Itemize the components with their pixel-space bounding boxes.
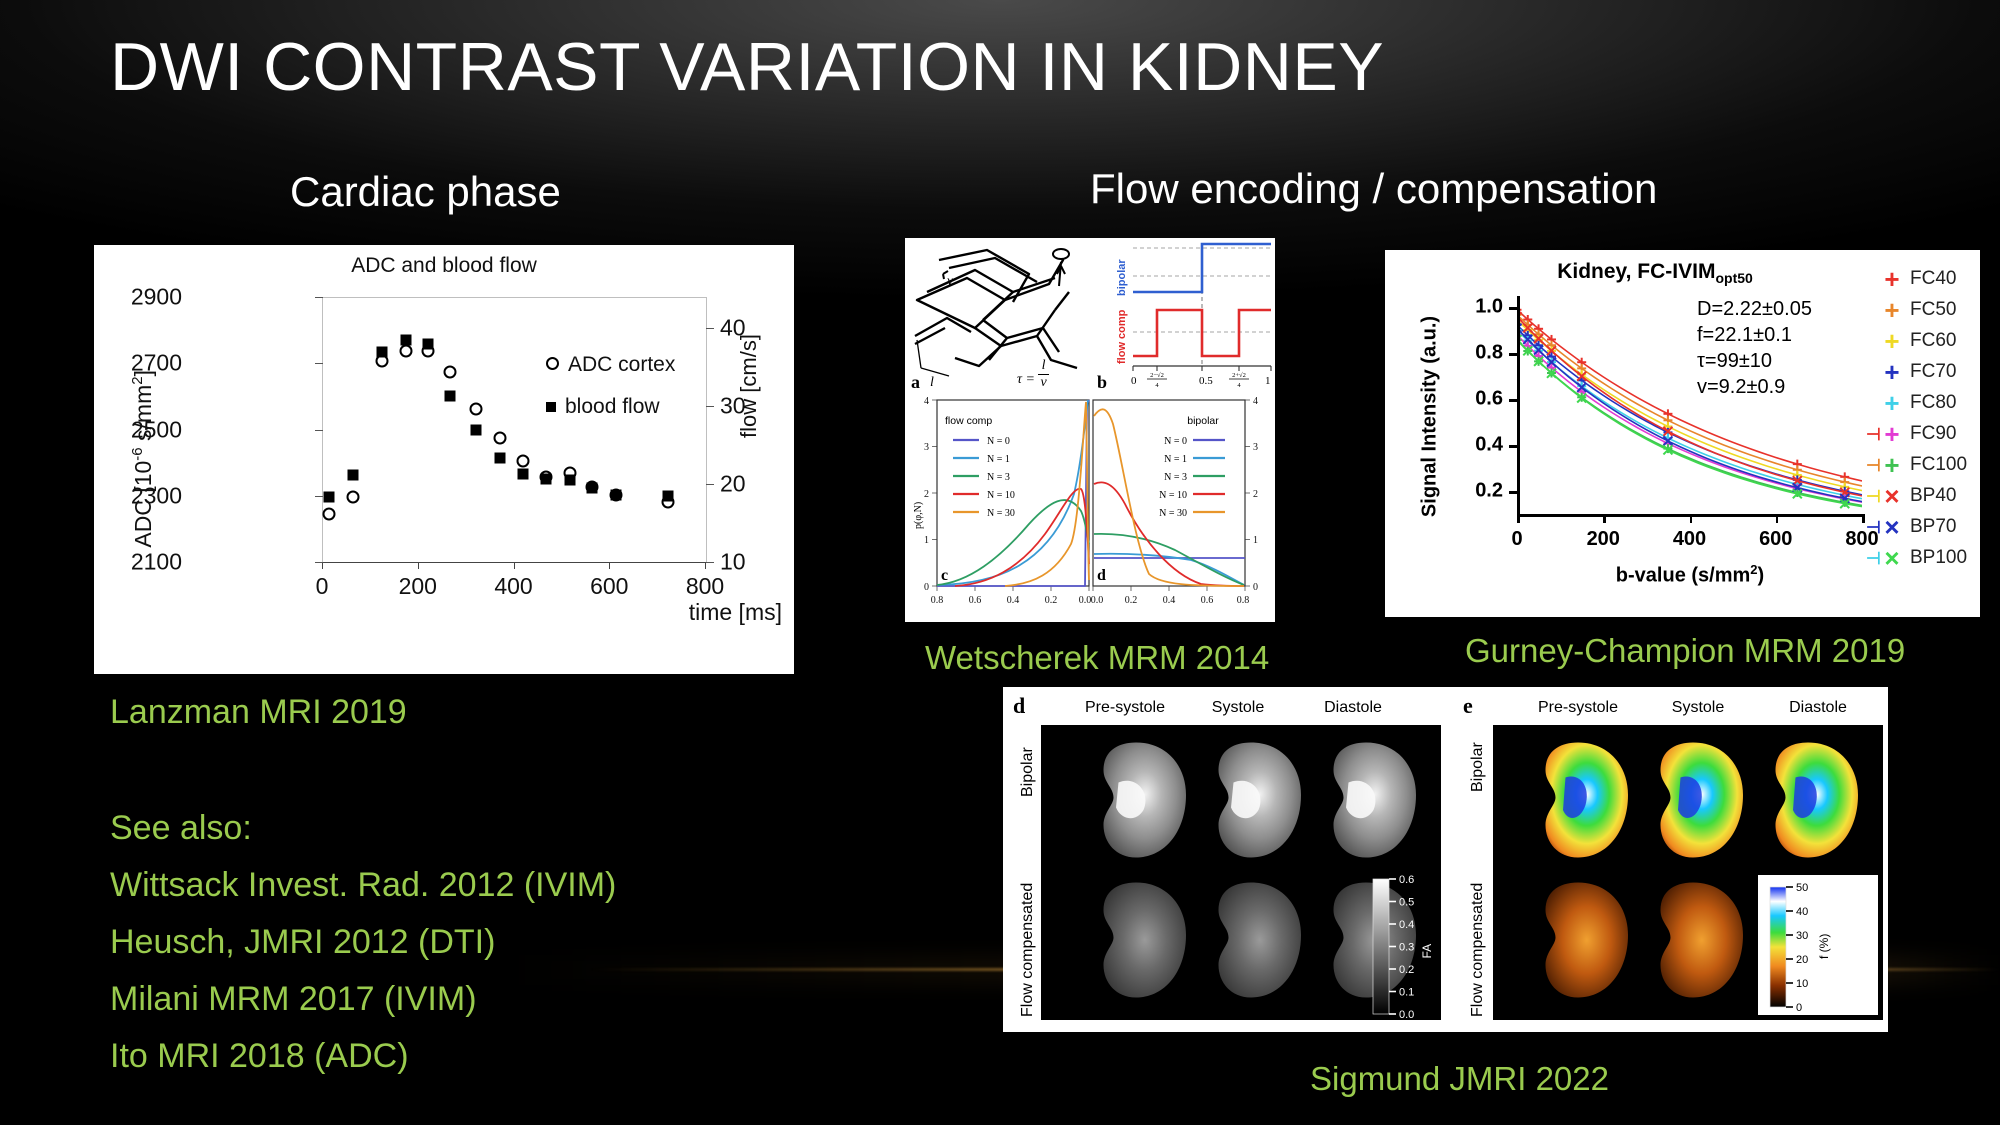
see-also-heading: See also: (110, 800, 616, 857)
svg-text:0: 0 (1131, 375, 1137, 387)
svg-text:N = 0: N = 0 (1164, 436, 1187, 447)
citation-wetscherek: Wetscherek MRM 2014 (925, 639, 1269, 677)
data-point-adc-cortex (323, 507, 336, 520)
column-header-pre-systole-d: Pre-systole (1085, 699, 1165, 717)
y-axis-tick-label: 2900 (131, 284, 182, 311)
axis-stub-marker: ⊣ (1866, 456, 1881, 476)
data-point-adc-cortex (470, 402, 483, 415)
y2-axis-tick (706, 406, 714, 407)
kidney-parametric-map (1104, 883, 1187, 998)
legend-item-fc70: +FC70 (1880, 357, 1980, 388)
svg-text:0.2: 0.2 (1125, 595, 1138, 606)
svg-text:N = 1: N = 1 (1164, 454, 1187, 465)
x-axis-tick (418, 562, 419, 569)
row-label-bipolar-e: Bipolar (1469, 742, 1487, 792)
colorbar-tick-label: 10 (1796, 978, 1808, 990)
colorbar-panel: 50403020100f (%) (1758, 875, 1878, 1015)
y2-axis-tick-label: 30 (720, 393, 746, 420)
svg-text:0.4: 0.4 (1163, 595, 1176, 606)
y-axis-title: Signal Intensity (a.u.) (1419, 302, 1442, 532)
y-axis-tick (315, 363, 323, 364)
data-point-adc-cortex (563, 467, 576, 480)
colorbar-tick-label: 0 (1796, 1002, 1802, 1011)
x-axis-tick-label: 800 (686, 573, 724, 600)
plus-marker-icon: + (1880, 452, 1904, 478)
svg-text:d: d (1097, 567, 1106, 584)
x-axis-tick-label: 0 (1511, 528, 1522, 551)
svg-text:c: c (941, 567, 948, 584)
panel-d-fa-maps: 0.60.50.40.30.20.10.0FA (1041, 725, 1441, 1020)
cross-marker-icon: × (1880, 545, 1904, 571)
colorbar-tick-label: 0.4 (1399, 919, 1414, 931)
gradient-waveform-plot: 0 0.5 1 2−√24 2+√24 bipolar flow comp (1095, 240, 1273, 392)
colorbar-tick-label: 30 (1796, 930, 1808, 942)
figure-gurney-champion: Kidney, FC-IVIMopt50 D=2.22±0.05f=22.1±0… (1385, 250, 1980, 617)
column-header-diastole-d: Diastole (1324, 699, 1382, 717)
x-axis-tick-label: 800 (1845, 528, 1878, 551)
data-point-adc-cortex (399, 344, 412, 357)
data-point-blood-flow (324, 491, 335, 502)
svg-text:4: 4 (1253, 396, 1258, 407)
legend-label: FC40 (1910, 268, 1956, 290)
y-axis-tick (1509, 353, 1518, 356)
x-axis-tick-label: 600 (590, 573, 628, 600)
legend-item-adc-cortex: ADC cortex (546, 353, 675, 377)
y-axis-tick (1509, 399, 1518, 402)
column-header-diastole-e: Diastole (1789, 699, 1847, 717)
svg-text:4: 4 (1155, 382, 1159, 389)
svg-text:2: 2 (924, 489, 929, 500)
chart-adc-and-blood-flow: ADC and blood flow ADC [10-6 s/mm2] flow… (94, 245, 794, 674)
panel-label-a: a (911, 372, 920, 393)
y-axis-tick-label: 2700 (131, 350, 182, 377)
legend-item-bp70: ×BP70⊣ (1880, 512, 1980, 543)
slide-canvas: DWI CONTRAST VARIATION IN KIDNEY Cardiac… (0, 0, 2000, 1125)
data-point-blood-flow (495, 452, 506, 463)
svg-text:0.8: 0.8 (931, 595, 944, 606)
legend-item-blood-flow: blood flow (546, 395, 660, 419)
x-axis-tick (514, 562, 515, 569)
svg-text:4: 4 (924, 396, 929, 407)
legend-item-fc80: +FC80 (1880, 388, 1980, 419)
citation-sigmund: Sigmund JMRI 2022 (1310, 1060, 1609, 1098)
y-axis-tick-label: 0.8 (1445, 342, 1503, 365)
svg-text:flow comp: flow comp (945, 415, 992, 427)
plus-marker-icon: + (1880, 359, 1904, 385)
svg-text:0.0: 0.0 (1079, 595, 1091, 606)
data-point-adc-cortex (661, 495, 674, 508)
colorbar-tick-label: 0.1 (1399, 987, 1414, 999)
see-also-item: Heusch, JMRI 2012 (DTI) (110, 914, 616, 971)
cross-marker-icon: × (1880, 514, 1904, 540)
svg-text:0.6: 0.6 (1201, 595, 1214, 606)
axis-stub-marker: ⊣ (1866, 487, 1881, 507)
x-axis-tick-label: 400 (1673, 528, 1706, 551)
citation-lanzman: Lanzman MRI 2019 (110, 693, 407, 732)
chart-legend: +FC40+FC50+FC60+FC70+FC80+FC90⊣+FC100⊣×B… (1880, 264, 1980, 574)
y-axis-tick-label: 2500 (131, 416, 182, 443)
colorbar-tick-label: 20 (1796, 954, 1808, 966)
svg-text:1: 1 (1265, 375, 1271, 387)
x-axis-tick (1776, 514, 1779, 523)
plot-area (322, 297, 707, 563)
svg-text:N = 1: N = 1 (987, 454, 1010, 465)
legend-label: BP40 (1910, 485, 1956, 507)
colorbar-tick-label: 40 (1796, 906, 1808, 918)
kidney-parametric-map (1219, 883, 1302, 998)
colorbar-tick-label: 0.3 (1399, 942, 1414, 954)
legend-item-fc50: +FC50 (1880, 295, 1980, 326)
legend-label: FC50 (1910, 299, 1956, 321)
phase-distribution-plot-d: 01234 0.00.20.40.60.8 bipolar N = 0 N = … (1091, 394, 1273, 620)
panel-label-d: d (1013, 693, 1025, 719)
legend-item-bp100: ×BP100⊣ (1880, 543, 1980, 574)
svg-text:2−√2: 2−√2 (1150, 371, 1164, 379)
panel-d-phase-distribution-bipolar: 01234 0.00.20.40.60.8 bipolar N = 0 N = … (1091, 394, 1273, 620)
page-title: DWI CONTRAST VARIATION IN KIDNEY (110, 28, 1384, 106)
row-label-flow-compensated-e: Flow compensated (1469, 883, 1487, 1017)
chart-title: ADC and blood flow (94, 254, 794, 278)
svg-text:0: 0 (1253, 582, 1258, 593)
fit-curve-fc90 (1517, 335, 1862, 502)
column-header-systole-d: Systole (1212, 699, 1264, 717)
column-header-systole-e: Systole (1672, 699, 1724, 717)
figure-sigmund: d e Pre-systole Systole Diastole Pre-sys… (1003, 687, 1888, 1032)
svg-text:1: 1 (1253, 535, 1258, 546)
x-axis-title: b-value (s/mm2) (1505, 562, 1875, 588)
svg-text:N = 30: N = 30 (1159, 508, 1187, 519)
colorbar: 0.60.50.40.30.20.10.0FA (1371, 875, 1441, 1018)
filled-square-marker-icon (546, 402, 556, 412)
kidney-parametric-map (1661, 743, 1744, 858)
svg-text:4: 4 (1237, 382, 1241, 389)
svg-text:0: 0 (924, 582, 929, 593)
phase-distribution-plot-c: 01234 0.80.60.40.20.0 p(φ,N) flow comp N… (909, 394, 1091, 620)
y2-axis-tick (706, 484, 714, 485)
svg-text:0.8: 0.8 (1237, 595, 1250, 606)
section-heading-cardiac-phase: Cardiac phase (290, 168, 561, 216)
legend-label: FC80 (1910, 392, 1956, 414)
x-axis-tick-label: 400 (494, 573, 532, 600)
fit-curve-fc60 (1517, 320, 1862, 491)
row-label-flow-compensated-d: Flow compensated (1019, 883, 1037, 1017)
axis-stub-marker: ⊣ (1866, 549, 1881, 569)
data-point-adc-cortex (586, 480, 599, 493)
colorbar-tick-label: 50 (1796, 883, 1808, 894)
legend-label: FC100 (1910, 454, 1967, 476)
y-axis-tick (315, 430, 323, 431)
svg-text:0.2: 0.2 (1045, 595, 1058, 606)
data-point-adc-cortex (347, 490, 360, 503)
svg-text:v: v (947, 274, 954, 289)
colorbar-tick-label: 0.6 (1399, 875, 1414, 886)
kidney-parametric-map (1334, 743, 1417, 858)
y-axis-tick-label: 0.2 (1445, 480, 1503, 503)
panel-label-b: b (1097, 372, 1107, 393)
x-axis-tick (1517, 514, 1520, 523)
y2-axis-tick-label: 40 (720, 315, 746, 342)
svg-text:N = 10: N = 10 (1159, 490, 1187, 501)
column-header-pre-systole-e: Pre-systole (1538, 699, 1618, 717)
svg-text:0.4: 0.4 (1007, 595, 1020, 606)
y-axis-tick-label: 2300 (131, 482, 182, 509)
kidney-parametric-map (1661, 883, 1744, 998)
colorbar: 50403020100f (%) (1768, 883, 1838, 1011)
panel-label-e: e (1463, 693, 1473, 719)
kidney-parametric-map (1546, 883, 1629, 998)
x-axis-title-time: time [ms] (689, 599, 782, 626)
plus-marker-icon: + (1880, 421, 1904, 447)
capillary-network-diagram: v l (909, 240, 1094, 392)
y2-axis-tick-label: 20 (720, 471, 746, 498)
colorbar-axis-label: f (%) (1817, 934, 1831, 959)
fit-curve-bp40 (1517, 317, 1862, 496)
panel-b-gradient-waveforms: 0 0.5 1 2−√24 2+√24 bipolar flow comp b (1095, 240, 1273, 392)
panel-e-perfusion-fraction-maps: 50403020100f (%) (1493, 725, 1883, 1020)
tau-equation: τ = lv (1017, 358, 1049, 391)
legend-label: FC60 (1910, 330, 1956, 352)
svg-text:2+√2: 2+√2 (1232, 371, 1246, 379)
svg-text:2: 2 (1253, 489, 1258, 500)
svg-text:3: 3 (924, 442, 929, 453)
svg-text:0.5: 0.5 (1199, 375, 1213, 387)
svg-text:1: 1 (924, 535, 929, 546)
data-point-adc-cortex (444, 366, 457, 379)
y2-axis-tick-label: 10 (720, 549, 746, 576)
svg-text:0.6: 0.6 (969, 595, 982, 606)
y-axis-tick-label: 2100 (131, 549, 182, 576)
x-axis-tick (1862, 514, 1865, 523)
svg-text:N = 10: N = 10 (987, 490, 1015, 501)
chart-title-kidney-fc-ivim: Kidney, FC-IVIMopt50 (1445, 260, 1865, 286)
svg-text:3: 3 (1253, 442, 1258, 453)
plus-marker-icon: + (1880, 266, 1904, 292)
panel-c-phase-distribution-flow-comp: 01234 0.80.60.40.20.0 p(φ,N) flow comp N… (909, 394, 1091, 620)
see-also-item: Wittsack Invest. Rad. 2012 (IVIM) (110, 857, 616, 914)
svg-text:N = 30: N = 30 (987, 508, 1015, 519)
y2-axis-tick (706, 328, 714, 329)
see-also-list: See also: Wittsack Invest. Rad. 2012 (IV… (110, 800, 616, 1085)
data-point-adc-cortex (540, 470, 553, 483)
figure-wetscherek: v l τ = lv a (905, 238, 1275, 622)
x-axis-tick-label: 200 (399, 573, 437, 600)
svg-text:flow comp: flow comp (1116, 309, 1128, 364)
legend-label: BP70 (1910, 516, 1956, 538)
kidney-parametric-map (1776, 743, 1859, 858)
x-axis-tick-label: 0 (316, 573, 329, 600)
y-axis-title-adc: ADC [10-6 s/mm2] (129, 344, 157, 574)
fit-curve-bp70 (1517, 328, 1862, 501)
y-axis-tick-label: 1.0 (1445, 296, 1503, 319)
panel-a-capillary-network: v l τ = lv a (909, 240, 1094, 392)
data-point-adc-cortex (610, 488, 623, 501)
data-point-blood-flow (518, 468, 529, 479)
x-axis-tick (1690, 514, 1693, 523)
y-axis-tick (1509, 445, 1518, 448)
axis-stub-marker: ⊣ (1866, 425, 1881, 445)
plus-marker-icon: + (1880, 297, 1904, 323)
svg-text:N = 0: N = 0 (987, 436, 1010, 447)
plus-marker-icon: + (1880, 390, 1904, 416)
y-axis-tick (315, 297, 323, 298)
svg-text:0.0: 0.0 (1091, 595, 1103, 606)
svg-text:bipolar: bipolar (1116, 259, 1128, 296)
fit-curve-fc40 (1517, 310, 1862, 481)
colorbar-tick-label: 0.0 (1399, 1009, 1414, 1018)
y-axis-tick (315, 562, 323, 563)
legend-item-fc100: +FC100⊣ (1880, 450, 1980, 481)
see-also-item: Ito MRI 2018 (ADC) (110, 1028, 616, 1085)
x-axis-tick (1603, 514, 1606, 523)
fit-curve-fc70 (1517, 325, 1862, 495)
legend-label: FC70 (1910, 361, 1956, 383)
svg-text:bipolar: bipolar (1187, 415, 1219, 427)
legend-item-fc60: +FC60 (1880, 326, 1980, 357)
open-circle-marker-icon (546, 357, 559, 370)
data-point-adc-cortex (422, 344, 435, 357)
x-axis-tick-label: 200 (1587, 528, 1620, 551)
y-axis-line (1517, 296, 1520, 516)
x-axis-tick (322, 562, 323, 569)
data-point-adc-cortex (517, 455, 530, 468)
ivim-decay-curves (1517, 296, 1862, 514)
y2-axis-tick (706, 562, 714, 563)
svg-text:l: l (930, 375, 934, 390)
kidney-parametric-map (1219, 743, 1302, 858)
data-point-blood-flow (471, 424, 482, 435)
data-point-blood-flow (348, 469, 359, 480)
y-axis-tick (315, 496, 323, 497)
legend-label: BP100 (1910, 547, 1967, 569)
legend-label: FC90 (1910, 423, 1956, 445)
cross-marker-icon: × (1880, 483, 1904, 509)
x-axis-tick (609, 562, 610, 569)
y-axis-tick-label: 0.6 (1445, 388, 1503, 411)
colorbar-axis-label: FA (1420, 944, 1434, 959)
data-point-adc-cortex (375, 355, 388, 368)
data-point-blood-flow (445, 390, 456, 401)
x-axis-tick (705, 562, 706, 569)
citation-gurney-champion: Gurney-Champion MRM 2019 (1465, 632, 1905, 670)
y-axis-tick (1509, 491, 1518, 494)
legend-item-fc40: +FC40 (1880, 264, 1980, 295)
see-also-item: Milani MRM 2017 (IVIM) (110, 971, 616, 1028)
data-point-adc-cortex (494, 432, 507, 445)
row-label-bipolar-d: Bipolar (1019, 747, 1037, 797)
colorbar-tick-label: 0.2 (1399, 964, 1414, 976)
svg-text:p(φ,N): p(φ,N) (913, 502, 924, 529)
kidney-parametric-map (1546, 743, 1629, 858)
svg-text:N = 3: N = 3 (1164, 472, 1187, 483)
y-axis-tick (1509, 307, 1518, 310)
section-heading-flow-encoding: Flow encoding / compensation (1090, 165, 1657, 213)
plot-area (1517, 296, 1862, 514)
kidney-parametric-map (1104, 743, 1187, 858)
plus-marker-icon: + (1880, 328, 1904, 354)
legend-item-fc90: +FC90⊣ (1880, 419, 1980, 450)
colorbar-tick-label: 0.5 (1399, 897, 1414, 909)
svg-text:N = 3: N = 3 (987, 472, 1010, 483)
y-axis-tick-label: 0.4 (1445, 434, 1503, 457)
x-axis-tick-label: 600 (1759, 528, 1792, 551)
legend-item-bp40: ×BP40⊣ (1880, 481, 1980, 512)
